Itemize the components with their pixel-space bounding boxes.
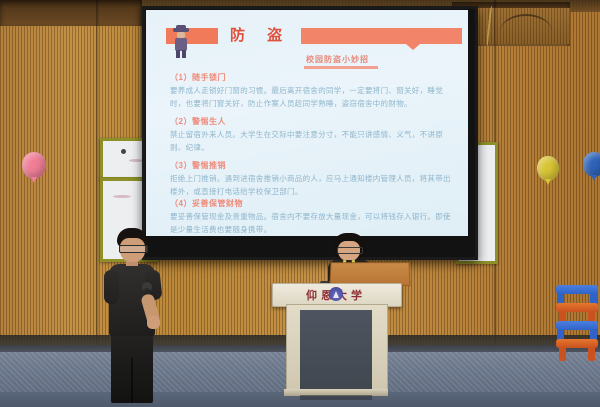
podium-front-panel xyxy=(300,310,372,390)
stacked-stools xyxy=(556,285,598,357)
whiteboard-mark xyxy=(129,159,143,162)
stool-leg xyxy=(559,347,566,361)
lecture-hall-scene: 防 盗 校园防盗小妙招 （1）随手锁门 要养成人走锁好门窗的习惯。最后离开宿舍的… xyxy=(0,0,600,407)
speaker-hand xyxy=(147,316,160,329)
section-body-1: 要养成人走锁好门窗的习惯。最后离开宿舍的同学，一定要将门、窗关好，睡觉时，也要将… xyxy=(170,84,452,110)
detective-figure-icon xyxy=(172,28,190,58)
subtitle-underline xyxy=(304,66,378,69)
banner-block-right xyxy=(301,28,462,44)
section-heading-2: （2）警惕生人 xyxy=(170,116,226,127)
balloon-blue xyxy=(583,152,600,177)
lectern-podium: 仰恩大学 xyxy=(272,283,400,401)
standing-speaker xyxy=(100,228,170,403)
presentation-slide: 防 盗 校园防盗小妙招 （1）随手锁门 要养成人走锁好门窗的习惯。最后离开宿舍的… xyxy=(146,10,468,236)
glasses-icon xyxy=(119,245,148,253)
section-heading-1: （1）随手锁门 xyxy=(170,72,226,83)
slide-banner: 防 盗 xyxy=(158,24,462,46)
slide-subtitle: 校园防盗小妙招 xyxy=(306,54,369,65)
stool-leg xyxy=(588,347,595,361)
glasses-icon xyxy=(337,247,363,254)
speaker-leg-split xyxy=(131,358,133,403)
section-heading-4: （4）妥善保管财物 xyxy=(170,198,243,209)
section-body-2: 禁止留宿外来人员。大学生在交际中要注意分寸，不能只讲感情、义气，不讲原则、纪律。 xyxy=(170,128,452,154)
podium-shadow xyxy=(300,395,372,400)
balloon-pink xyxy=(22,152,46,179)
slide-title: 防 盗 xyxy=(230,24,291,45)
ceiling-alcove-left xyxy=(0,0,142,26)
section-body-4: 要妥善保管现金及贵重物品。宿舍内不要存放大量现金，可以将钱存入银行。即使是少量生… xyxy=(170,210,452,236)
whiteboard-mark xyxy=(121,149,126,154)
whiteboard-mark xyxy=(113,195,131,198)
university-emblem-icon xyxy=(329,287,343,301)
section-body-3: 拒绝上门推销。遇到进宿舍推销小商品的人，应马上通知楼内管理人员，将其带出楼外，或… xyxy=(170,172,452,198)
balloon-yellow xyxy=(537,156,559,181)
section-heading-3: （3）警惕推销 xyxy=(170,160,226,171)
banner-notch-icon xyxy=(406,44,420,50)
speaker-arm-left xyxy=(104,270,119,304)
